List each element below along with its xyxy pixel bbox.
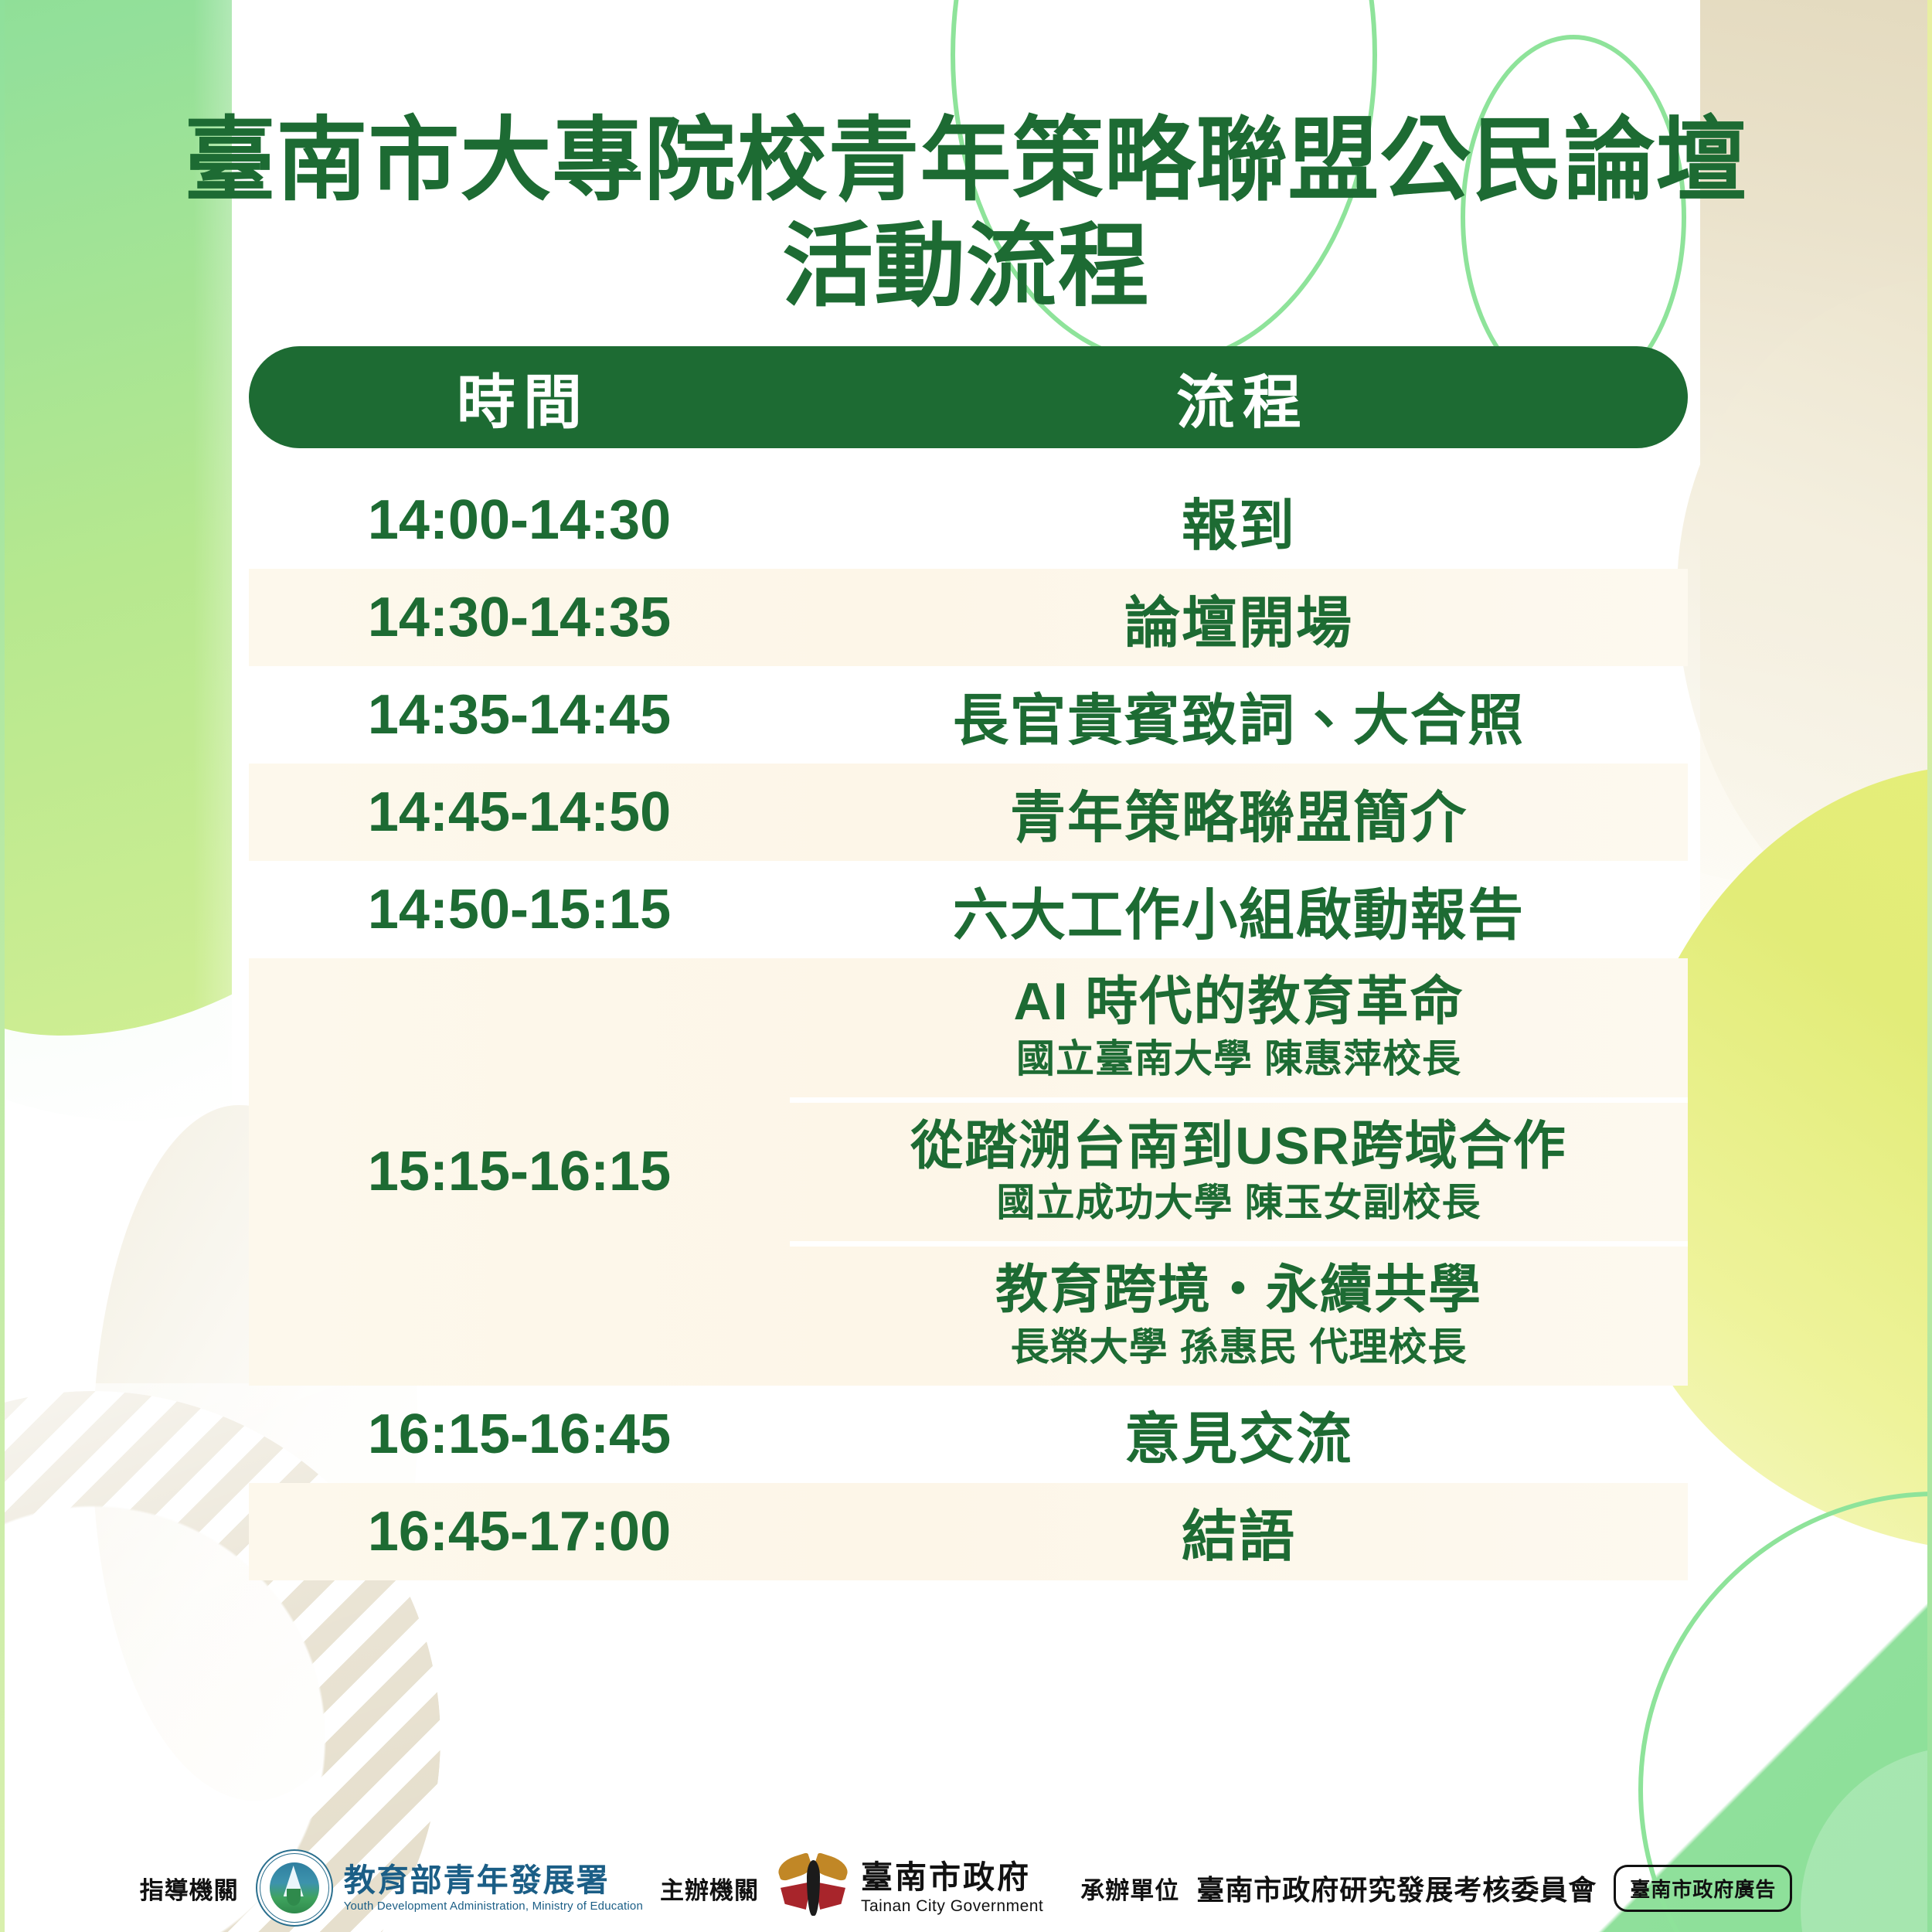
keynote-title: 教育跨境・永續共學 bbox=[790, 1260, 1688, 1321]
ministry-of-education-seal-icon bbox=[256, 1849, 333, 1927]
cell-time: 14:50-15:15 bbox=[249, 861, 790, 958]
poster-content: 臺南市大專院校青年策略聯盟公民論壇 活動流程 時間 流程 14:00-14:30… bbox=[0, 0, 1932, 1932]
poster-canvas: 臺南市大專院校青年策略聯盟公民論壇 活動流程 時間 流程 14:00-14:30… bbox=[0, 0, 1932, 1932]
cell-flow: 結語 bbox=[790, 1483, 1688, 1580]
guidance-agency-label: 指導機關 bbox=[140, 1871, 239, 1906]
tainan-logo-group: 臺南市政府 Tainan City Government bbox=[776, 1851, 1043, 1925]
cell-time: 16:45-17:00 bbox=[249, 1483, 790, 1580]
moe-logo-group: 教育部青年發展署 Youth Development Administratio… bbox=[256, 1849, 643, 1927]
moe-name-en: Youth Development Administration, Minist… bbox=[344, 1900, 643, 1912]
tainan-text-block: 臺南市政府 Tainan City Government bbox=[861, 1862, 1043, 1914]
keynote-session-list: AI 時代的教育革命 國立臺南大學 陳惠萍校長 從踏溯台南到USR跨域合作 國立… bbox=[790, 958, 1688, 1386]
keynote-speaker: 長榮大學 孫惠民 代理校長 bbox=[790, 1324, 1688, 1370]
cell-flow: 六大工作小組啟動報告 bbox=[790, 861, 1688, 958]
table-row: 16:15-16:45 意見交流 bbox=[249, 1386, 1688, 1483]
schedule-table-header: 時間 流程 bbox=[249, 346, 1688, 448]
host-agency-label: 主辦機關 bbox=[660, 1871, 759, 1906]
seal-emblem bbox=[270, 1862, 319, 1913]
keynote-session: 教育跨境・永續共學 長榮大學 孫惠民 代理校長 bbox=[790, 1241, 1688, 1386]
table-row: 16:45-17:00 結語 bbox=[249, 1483, 1688, 1580]
moe-name-cn: 教育部青年發展署 bbox=[344, 1865, 643, 1896]
cell-time: 16:15-16:45 bbox=[249, 1386, 790, 1483]
keynote-speaker: 國立臺南大學 陳惠萍校長 bbox=[790, 1036, 1688, 1082]
bird-body bbox=[807, 1860, 820, 1916]
cell-flow: 意見交流 bbox=[790, 1386, 1688, 1483]
executor-label: 承辦單位 bbox=[1080, 1871, 1179, 1906]
footer-bar: 指導機關 教育部青年發展署 Youth Development Administ… bbox=[0, 1838, 1932, 1932]
table-row: 14:00-14:30 報到 bbox=[249, 471, 1688, 569]
keynote-session: 從踏溯台南到USR跨域合作 國立成功大學 陳玉女副校長 bbox=[790, 1097, 1688, 1242]
cell-flow: 報到 bbox=[790, 471, 1688, 569]
header-cell-time: 時間 bbox=[249, 355, 790, 440]
cell-time: 14:45-14:50 bbox=[249, 764, 790, 861]
cell-flow: 長官貴賓致詞、大合照 bbox=[790, 666, 1688, 764]
tainan-name-cn: 臺南市政府 bbox=[861, 1862, 1043, 1893]
table-row: 14:30-14:35 論壇開場 bbox=[249, 569, 1688, 666]
tainan-phoenix-bird-icon bbox=[776, 1851, 850, 1925]
header-cell-flow: 流程 bbox=[790, 355, 1688, 440]
table-row: 14:50-15:15 六大工作小組啟動報告 bbox=[249, 861, 1688, 958]
cell-flow: 青年策略聯盟簡介 bbox=[790, 764, 1688, 861]
schedule-table-body: 14:00-14:30 報到 14:30-14:35 論壇開場 14:35-14… bbox=[249, 471, 1688, 1580]
keynote-title: AI 時代的教育革命 bbox=[790, 972, 1688, 1032]
keynote-session: AI 時代的教育革命 國立臺南大學 陳惠萍校長 bbox=[790, 958, 1688, 1097]
title-line-2: 活動流程 bbox=[0, 214, 1932, 320]
cell-time: 14:35-14:45 bbox=[249, 666, 790, 764]
tainan-name-en: Tainan City Government bbox=[861, 1898, 1043, 1914]
page-title: 臺南市大專院校青年策略聯盟公民論壇 活動流程 bbox=[0, 108, 1932, 320]
executor-name: 臺南市政府研究發展考核委員會 bbox=[1196, 1868, 1597, 1908]
keynote-speaker: 國立成功大學 陳玉女副校長 bbox=[790, 1179, 1688, 1226]
keynote-title: 從踏溯台南到USR跨域合作 bbox=[790, 1117, 1688, 1177]
cell-time: 14:00-14:30 bbox=[249, 471, 790, 569]
cell-flow: 論壇開場 bbox=[790, 569, 1688, 666]
status-badge: 臺南市政府廣告 bbox=[1614, 1865, 1792, 1912]
table-row: 14:35-14:45 長官貴賓致詞、大合照 bbox=[249, 666, 1688, 764]
table-row: 14:45-14:50 青年策略聯盟簡介 bbox=[249, 764, 1688, 861]
title-line-1: 臺南市大專院校青年策略聯盟公民論壇 bbox=[0, 108, 1932, 214]
cell-time: 15:15-16:15 bbox=[249, 958, 790, 1386]
cell-time: 14:30-14:35 bbox=[249, 569, 790, 666]
moe-text-block: 教育部青年發展署 Youth Development Administratio… bbox=[344, 1865, 643, 1912]
table-row-merged-keynotes: 15:15-16:15 AI 時代的教育革命 國立臺南大學 陳惠萍校長 從踏溯台… bbox=[249, 958, 1688, 1386]
